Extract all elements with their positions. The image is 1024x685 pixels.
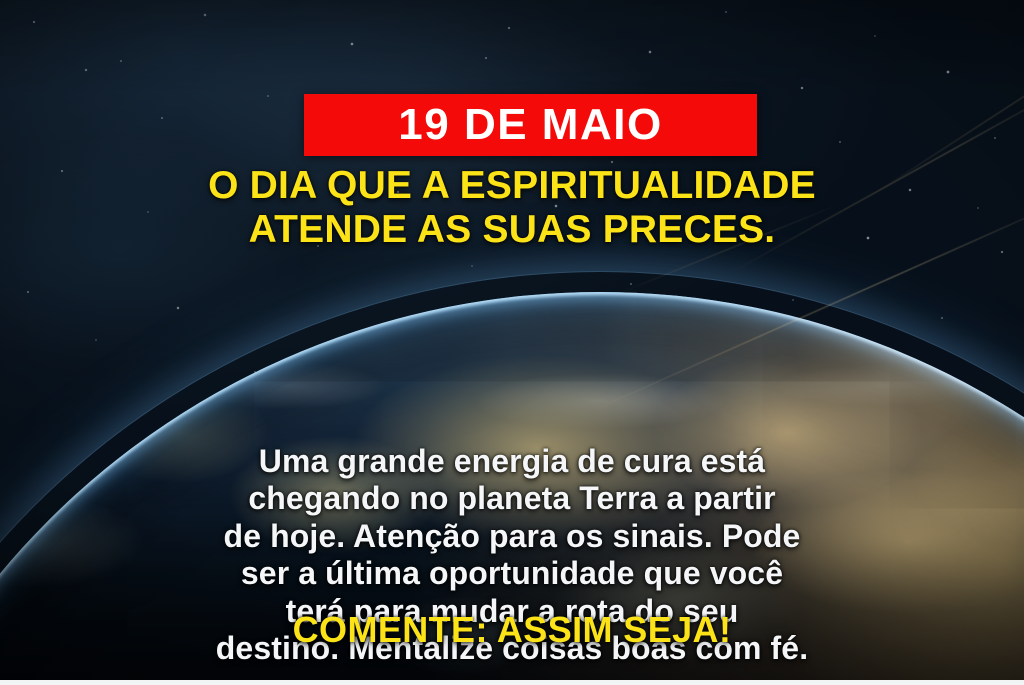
headline-line-2: ATENDE AS SUAS PRECES. [32, 208, 992, 252]
body-line-1: Uma grande energia de cura está [47, 443, 977, 480]
poster-canvas: 19 DE MAIO O DIA QUE A ESPIRITUALIDADE A… [0, 0, 1024, 685]
date-banner: 19 DE MAIO [304, 94, 757, 156]
poster-content: 19 DE MAIO O DIA QUE A ESPIRITUALIDADE A… [0, 0, 1024, 685]
body-line-2: chegando no planeta Terra a partir [47, 480, 977, 517]
headline: O DIA QUE A ESPIRITUALIDADE ATENDE AS SU… [32, 164, 992, 251]
body-line-4: ser a última oportunidade que você [47, 555, 977, 592]
bottom-edge-strip [0, 680, 1024, 685]
date-banner-text: 19 DE MAIO [398, 103, 662, 147]
body-line-3: de hoje. Atenção para os sinais. Pode [47, 518, 977, 555]
call-to-action-text: COMENTE: ASSIM SEJA! [62, 612, 962, 648]
headline-line-1: O DIA QUE A ESPIRITUALIDADE [32, 164, 992, 208]
